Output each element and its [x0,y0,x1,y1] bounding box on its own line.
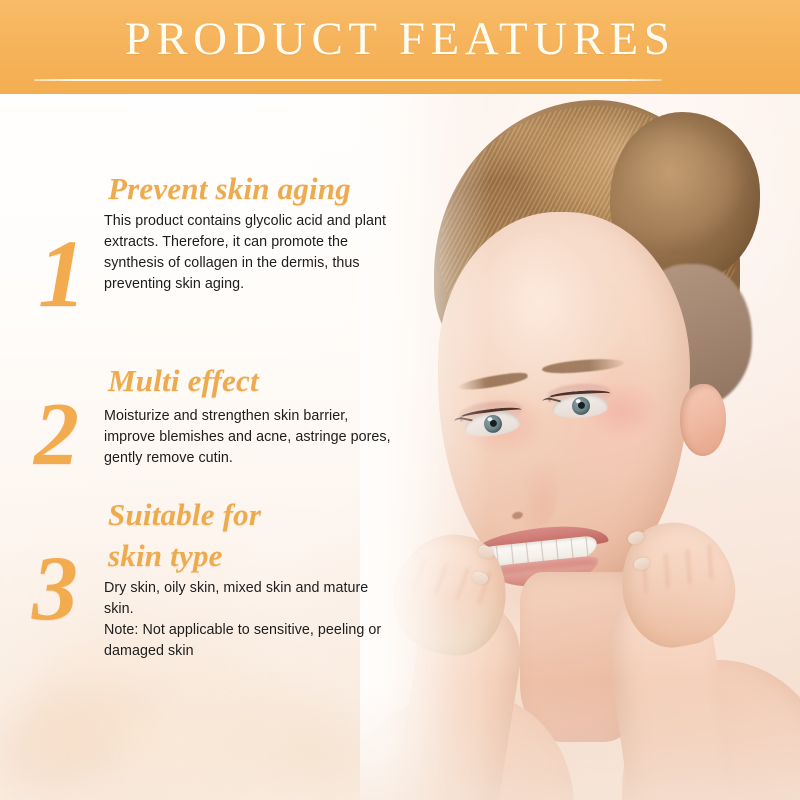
eye-right [551,392,609,420]
ear [680,384,726,456]
feature-heading-3-line-1: Suitable for [108,497,261,532]
feature-number-2: 2 [34,390,79,480]
feature-list: 1 Prevent skin aging This product contai… [0,94,420,800]
feature-heading-2: Multi effect [108,362,259,400]
photo-bottom-fade [360,680,800,800]
feature-body-2: Moisturize and strengthen skin barrier, … [104,406,394,469]
feature-body-1: This product contains glycolic acid and … [104,211,394,295]
feature-number-1: 1 [38,226,86,322]
feature-number-3: 3 [32,542,78,634]
header-banner: PRODUCT FEATURES [0,0,800,94]
feature-heading-3: Suitable for skin type [108,494,261,576]
feature-heading-1: Prevent skin aging [108,170,351,208]
model-portrait-photo [360,94,800,800]
product-features-poster: PRODUCT FEATURES 1 Prevent skin aging Th… [0,0,800,800]
title-underline [34,79,662,81]
page-title: PRODUCT FEATURES [0,11,800,67]
feature-heading-3-line-2: skin type [108,538,223,573]
feature-body-3: Dry skin, oily skin, mixed skin and matu… [104,578,394,662]
